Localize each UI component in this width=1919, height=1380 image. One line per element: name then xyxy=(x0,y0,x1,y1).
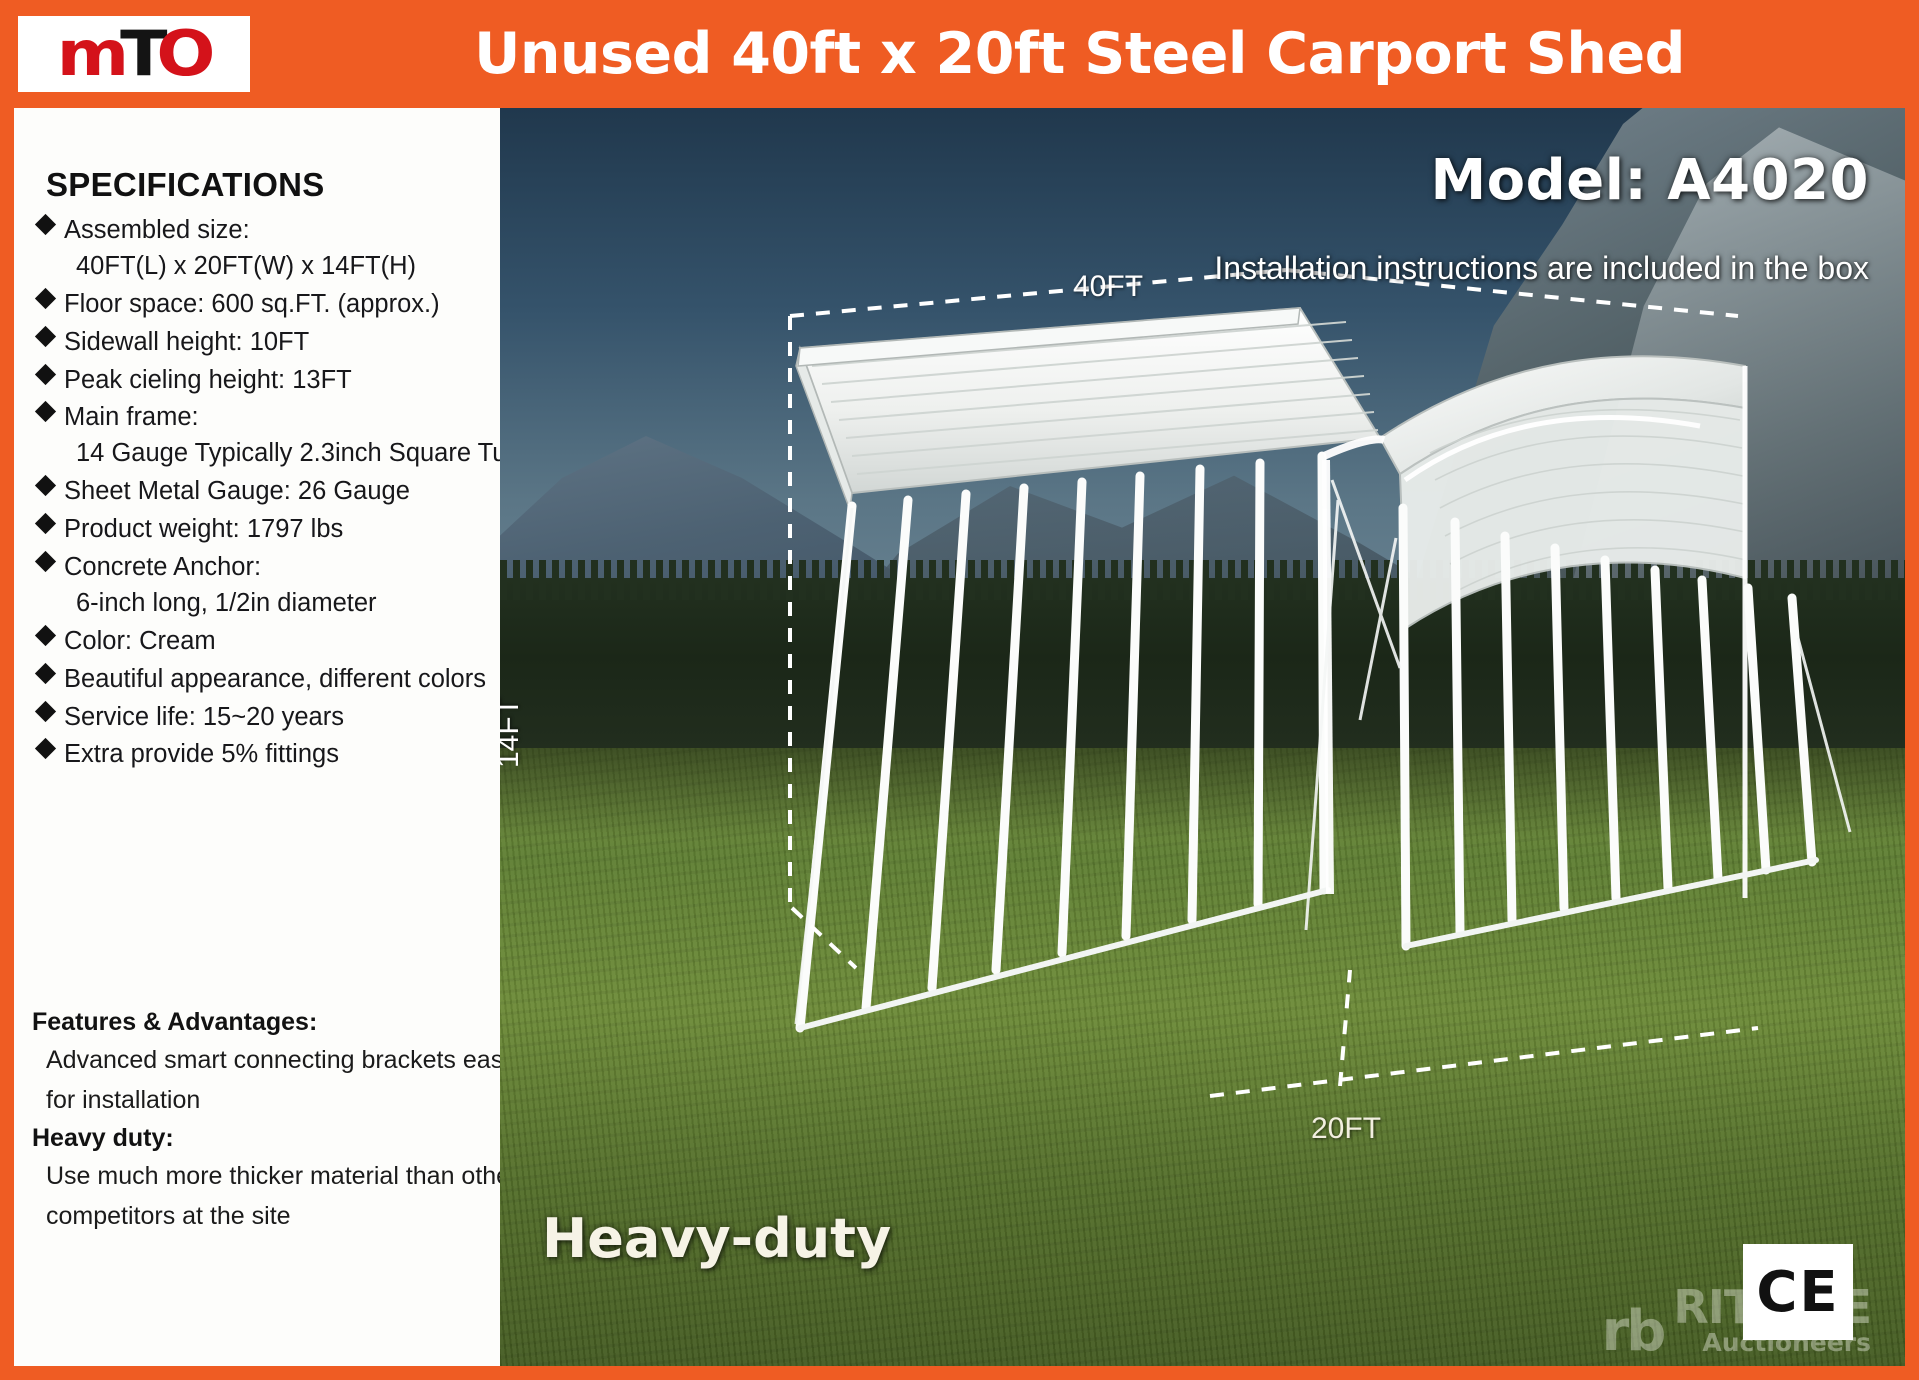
spec-item: Sidewall height: 10FT xyxy=(32,326,486,359)
spec-item: Assembled size: xyxy=(32,214,486,247)
spec-item: Extra provide 5% fittings xyxy=(32,738,486,771)
dimension-height-label: 14FT xyxy=(500,698,526,768)
specifications-heading: SPECIFICATIONS xyxy=(46,166,486,204)
page-title: Unused 40ft x 20ft Steel Carport Shed xyxy=(260,4,1899,104)
spec-item-label: 14 Gauge Typically 2.3inch Square Tube xyxy=(76,439,535,467)
spec-item: Concrete Anchor: xyxy=(32,551,486,584)
diamond-bullet-icon xyxy=(35,288,56,309)
spec-item-label: Main frame: xyxy=(64,403,199,431)
diamond-bullet-icon xyxy=(35,214,56,235)
spec-item-label: Concrete Anchor: xyxy=(64,553,261,581)
features-line-2: for installation xyxy=(46,1084,492,1117)
features-line-3: Use much more thicker material than othe… xyxy=(46,1160,492,1193)
spec-item: Peak cieling height: 13FT xyxy=(32,364,486,397)
features-section: Features & Advantages: Advanced smart co… xyxy=(32,1008,492,1239)
poster-body: SPECIFICATIONS Assembled size: 40FT(L) x… xyxy=(14,108,1905,1366)
dimension-length-label: 40FT xyxy=(1073,270,1143,304)
spec-item: Sheet Metal Gauge: 26 Gauge xyxy=(32,475,486,508)
spec-item-label: Beautiful appearance, different colors xyxy=(64,665,486,693)
spec-item-label: Sidewall height: 10FT xyxy=(64,328,309,356)
diamond-bullet-icon xyxy=(35,700,56,721)
diamond-bullet-icon xyxy=(35,551,56,572)
poster-header: mTO Unused 40ft x 20ft Steel Carport She… xyxy=(0,0,1919,108)
spec-item-label: Sheet Metal Gauge: 26 Gauge xyxy=(64,477,410,505)
mto-logo: mTO xyxy=(18,16,250,92)
features-heading: Features & Advantages: xyxy=(32,1008,492,1037)
logo-letter-o: O xyxy=(157,23,212,85)
ce-mark-text: CE xyxy=(1756,1260,1839,1325)
spec-item-label: Extra provide 5% fittings xyxy=(64,740,339,768)
spec-item: Service life: 15~20 years xyxy=(32,701,486,734)
spec-item-label: Assembled size: xyxy=(64,216,250,244)
spec-item-label: Peak cieling height: 13FT xyxy=(64,366,352,394)
spec-item: Beautiful appearance, different colors xyxy=(32,663,486,696)
diamond-bullet-icon xyxy=(35,401,56,422)
product-spec-poster: mTO Unused 40ft x 20ft Steel Carport She… xyxy=(0,0,1919,1380)
features-line-4: competitors at the site xyxy=(46,1200,492,1233)
diamond-bullet-icon xyxy=(35,475,56,496)
dimension-width-label: 20FT xyxy=(1311,1112,1381,1146)
rb-logo-icon: rb xyxy=(1602,1308,1664,1356)
diamond-bullet-icon xyxy=(35,625,56,646)
spec-item: 40FT(L) x 20FT(W) x 14FT(H) xyxy=(32,250,486,283)
spec-item: 14 Gauge Typically 2.3inch Square Tube xyxy=(32,437,486,470)
carport-illustration xyxy=(500,108,1905,1366)
logo-letter-m: m xyxy=(57,23,125,85)
spec-item: Product weight: 1797 lbs xyxy=(32,513,486,546)
mto-logo-text: mTO xyxy=(57,23,211,85)
diamond-bullet-icon xyxy=(35,363,56,384)
spec-item-label: 40FT(L) x 20FT(W) x 14FT(H) xyxy=(76,252,416,280)
spec-item: Color: Cream xyxy=(32,625,486,658)
diamond-bullet-icon xyxy=(35,513,56,534)
diamond-bullet-icon xyxy=(35,738,56,759)
ce-mark-badge: CE xyxy=(1743,1244,1853,1340)
model-subtitle: Installation instructions are included i… xyxy=(1214,250,1869,287)
diamond-bullet-icon xyxy=(35,663,56,684)
features-line-1: Advanced smart connecting brackets easy xyxy=(46,1044,492,1077)
spec-item-label: Color: Cream xyxy=(64,627,216,655)
spec-item: Main frame: xyxy=(32,401,486,434)
spec-item: 6-inch long, 1/2in diameter xyxy=(32,587,486,620)
specifications-panel: SPECIFICATIONS Assembled size: 40FT(L) x… xyxy=(14,108,500,1366)
spec-item-label: Service life: 15~20 years xyxy=(64,703,344,731)
specifications-list: Assembled size: 40FT(L) x 20FT(W) x 14FT… xyxy=(32,214,486,771)
heavy-duty-caption: Heavy-duty xyxy=(542,1207,891,1270)
heavy-duty-heading: Heavy duty: xyxy=(32,1124,492,1153)
diamond-bullet-icon xyxy=(35,326,56,347)
spec-item-label: Product weight: 1797 lbs xyxy=(64,515,343,543)
spec-item-label: Floor space: 600 sq.FT. (approx.) xyxy=(64,290,440,318)
product-photo: Model: A4020 Installation instructions a… xyxy=(500,108,1905,1366)
spec-item: Floor space: 600 sq.FT. (approx.) xyxy=(32,288,486,321)
model-label: Model: A4020 xyxy=(1430,148,1869,213)
spec-item-label: 6-inch long, 1/2in diameter xyxy=(76,589,377,617)
